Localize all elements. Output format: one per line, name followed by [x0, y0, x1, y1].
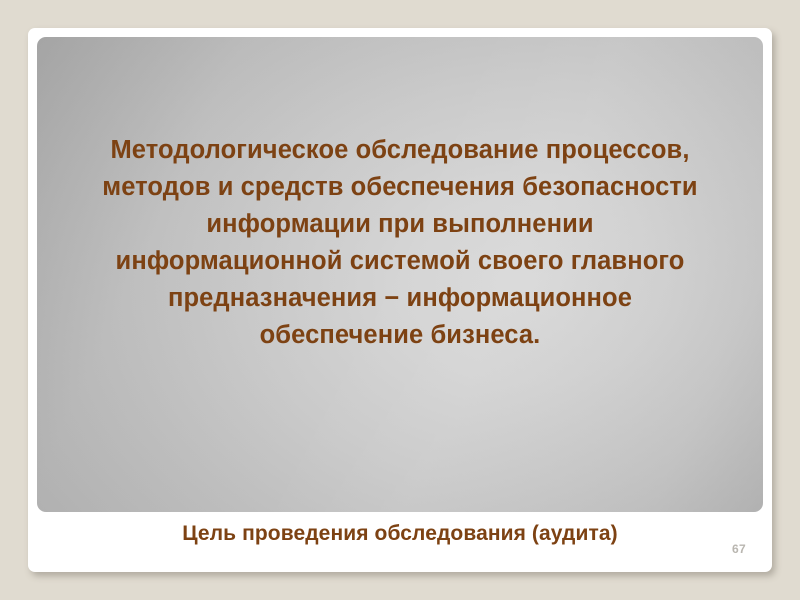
content-panel: Методологическое обследование процессов,… [37, 37, 763, 512]
slide-stage: Методологическое обследование процессов,… [0, 0, 800, 600]
slide-card: Методологическое обследование процессов,… [28, 28, 772, 572]
slide-caption: Цель проведения обследования (аудита) [28, 521, 772, 547]
slide-body-text: Методологическое обследование процессов,… [37, 132, 763, 354]
slide-number: 67 [732, 542, 746, 556]
